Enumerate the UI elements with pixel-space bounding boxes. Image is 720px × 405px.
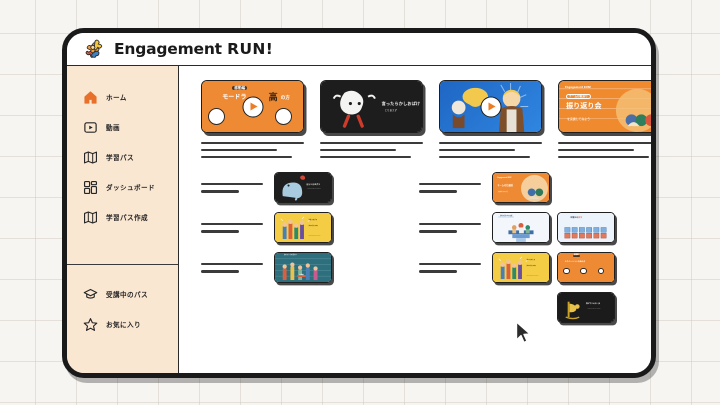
featured-cell (439, 80, 542, 158)
placeholder-line (419, 270, 457, 272)
placeholder-lines (419, 223, 481, 233)
featured-video-row: 感動編 モードラ 高 の方 言ったらかしおばけ とりあえず (201, 80, 637, 158)
sidebar-item-label: 学習パス作成 (106, 212, 148, 222)
sidebar-item-label: ホーム (106, 92, 127, 102)
home-icon (83, 90, 98, 105)
sidebar-primary-group: ホーム動画学習パスダッシュボード学習パス作成 (67, 66, 178, 232)
star-icon (83, 317, 98, 332)
video-card-3[interactable] (439, 80, 542, 133)
placeholder-lines (201, 263, 263, 273)
brand-primary: Engagement (114, 40, 222, 58)
app-title: Engagement RUN! (114, 40, 273, 58)
placeholder-line (558, 149, 634, 151)
sidebar: ホーム動画学習パスダッシュボード学習パス作成 受講中のパスお気に入り (67, 66, 179, 373)
video-thumbnail[interactable]: 対話で広がる 関係の質を高める Engagement RUN! (274, 212, 332, 243)
play-button[interactable] (480, 96, 501, 117)
sidebar-item-4[interactable]: ダッシュボード (67, 172, 178, 202)
sidebar-item-2[interactable]: お気に入り (67, 309, 178, 339)
sidebar-item-label: ダッシュボード (106, 182, 155, 192)
map-icon (83, 210, 98, 225)
sidebar-item-label: お気に入り (106, 319, 141, 329)
sidebar-item-1[interactable]: 受講中のパス (67, 279, 178, 309)
placeholder-line (201, 263, 263, 265)
placeholder-line (419, 223, 481, 225)
placeholder-line (201, 270, 239, 272)
main-content: 感動編 モードラ 高 の方 言ったらかしおばけ とりあえず (179, 66, 651, 373)
video-thumbnail-right-3[interactable]: 伸ばすための一歩 Engagement RUN! (557, 292, 615, 323)
placeholder-line (558, 156, 649, 158)
placeholder-lines (558, 142, 651, 158)
sidebar-item-label: 動画 (106, 122, 120, 132)
play-triangle-icon (488, 103, 495, 111)
video-thumbnail[interactable]: 自分らしさを活かす 実践編 (274, 252, 332, 283)
featured-cell: 感動編 モードラ 高 の方 (201, 80, 304, 158)
app-header: Engagement RUN! (67, 33, 651, 66)
video-thumbnail[interactable]: 思いを伝える 関係の質を高める Engagement RUN! (492, 252, 550, 283)
placeholder-lines (201, 142, 304, 158)
placeholder-line (201, 142, 304, 144)
brand-accent: RUN! (227, 40, 273, 58)
placeholder-line (320, 142, 423, 144)
list-item: Engagement RUN! チームの信頼感 を実践してみよう (419, 172, 637, 203)
video-thumbnail-right-2[interactable]: 感動編 モチベーションの高め方 (557, 252, 615, 283)
placeholder-lines (439, 142, 542, 158)
video-card-1[interactable]: 感動編 モードラ 高 の方 (201, 80, 304, 133)
placeholder-line (439, 149, 515, 151)
placeholder-line (419, 183, 481, 185)
table-row: 自分と向き合う Engagement RUN! Engagement RUN! … (201, 172, 637, 203)
placeholder-lines (320, 142, 423, 158)
video-thumbnail[interactable]: Engagement RUN! チームの信頼感 を実践してみよう (492, 172, 550, 203)
play-triangle-icon (250, 103, 257, 111)
map-icon (83, 150, 98, 165)
placeholder-line (439, 142, 542, 144)
featured-cell: Engagement RUN! チームの振返り 振り返り会 を実施してみよう (558, 80, 651, 158)
placeholder-line (201, 223, 263, 225)
sidebar-item-5[interactable]: 学習パス作成 (67, 202, 178, 232)
sidebar-item-label: 受講中のパス (106, 289, 148, 299)
video-thumbnail[interactable]: 自分と向き合う Engagement RUN! (274, 172, 332, 203)
sidebar-item-1[interactable]: ホーム (67, 82, 178, 112)
app-window: Engagement RUN! ホーム動画学習パスダッシュボード学習パス作成 受… (62, 28, 656, 378)
sidebar-item-2[interactable]: 動画 (67, 112, 178, 142)
placeholder-lines (201, 223, 263, 233)
list-item: 対話で広がる 関係の質を高める Engagement RUN! (201, 212, 419, 243)
puzzle-cluster-icon (84, 38, 106, 60)
video-card-2[interactable]: 言ったらかしおばけ とりあえず (320, 80, 423, 133)
sidebar-item-3[interactable]: 学習パス (67, 142, 178, 172)
app-body: ホーム動画学習パスダッシュボード学習パス作成 受講中のパスお気に入り 感動編 モ… (67, 66, 651, 373)
placeholder-line (558, 142, 651, 144)
placeholder-line (201, 190, 239, 192)
placeholder-lines (419, 263, 481, 273)
video-thumbnail[interactable]: 目的を合わせる会話 (492, 212, 550, 243)
play-square-icon (83, 120, 98, 135)
placeholder-line (201, 183, 263, 185)
list-item: 自分らしさを活かす 実践編 (201, 252, 419, 283)
play-button[interactable] (242, 96, 263, 117)
graduation-cap-icon (83, 287, 98, 302)
sidebar-secondary-group: 受講中のパスお気に入り (67, 264, 178, 373)
video-thumbnail-right-1[interactable]: 習慣化の科学 (557, 212, 615, 243)
placeholder-line (320, 149, 396, 151)
placeholder-line (419, 230, 457, 232)
placeholder-lines (419, 183, 481, 193)
placeholder-line (201, 156, 292, 158)
placeholder-line (419, 263, 481, 265)
placeholder-line (201, 230, 239, 232)
placeholder-line (419, 190, 457, 192)
placeholder-lines (201, 183, 263, 193)
placeholder-line (439, 156, 530, 158)
featured-cell: 言ったらかしおばけ とりあえず (320, 80, 423, 158)
list-item: 自分と向き合う Engagement RUN! (201, 172, 419, 203)
sidebar-item-label: 学習パス (106, 152, 134, 162)
dashboard-grid-icon (83, 180, 98, 195)
mouse-pointer-icon (515, 321, 532, 344)
placeholder-line (320, 156, 411, 158)
video-card-4[interactable]: Engagement RUN! チームの振返り 振り返り会 を実施してみよう (558, 80, 651, 133)
placeholder-line (201, 149, 277, 151)
